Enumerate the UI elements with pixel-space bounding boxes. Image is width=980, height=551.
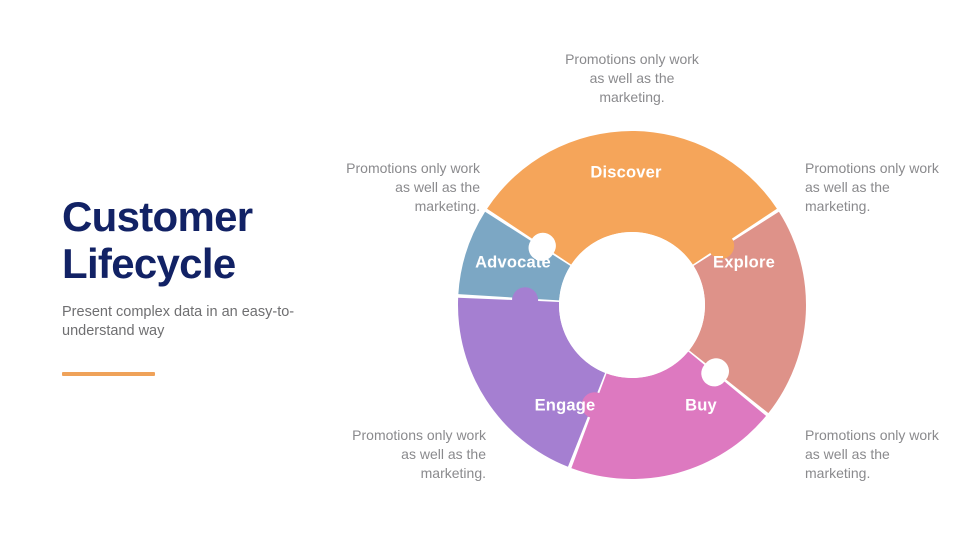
caption-advocate: Promotions only work as well as the mark… [330, 159, 480, 217]
caption-engage: Promotions only work as well as the mark… [336, 426, 486, 484]
caption-discover: Promotions only work as well as the mark… [557, 50, 707, 108]
slide-canvas: Customer Lifecycle Present complex data … [0, 0, 980, 551]
caption-explore: Promotions only work as well as the mark… [805, 159, 955, 217]
puzzle-donut-diagram: DiscoverExploreBuyEngageAdvocate Promoti… [0, 0, 980, 551]
segment-label-discover: Discover [590, 164, 661, 183]
segment-label-buy: Buy [685, 397, 717, 416]
donut-center-hole [559, 232, 705, 378]
segment-label-engage: Engage [535, 397, 596, 416]
caption-buy: Promotions only work as well as the mark… [805, 426, 955, 484]
segment-label-explore: Explore [713, 254, 775, 273]
segment-label-advocate: Advocate [475, 254, 551, 273]
